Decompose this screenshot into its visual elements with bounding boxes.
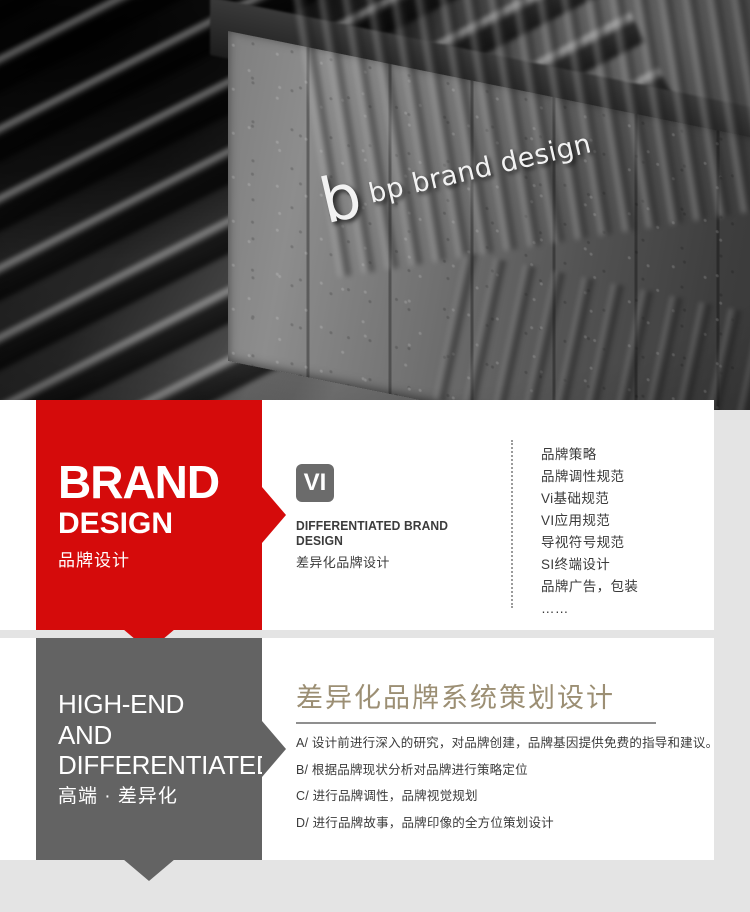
- list-item: 品牌策略: [541, 444, 638, 466]
- body-item: B/ 根据品牌现状分析对品牌进行策略定位: [296, 763, 706, 779]
- list-item: Vi基础规范: [541, 488, 638, 510]
- vi-badge-icon: VI: [296, 464, 334, 502]
- panel-notch-icon: [123, 859, 175, 881]
- service-bullet-list: 品牌策略 品牌调性规范 Vi基础规范 VI应用规范 导视符号规范 SI终端设计 …: [541, 444, 638, 620]
- body-item: A/ 设计前进行深入的研究，对品牌创建，品牌基因提供免费的指导和建议。: [296, 736, 706, 752]
- body-item: D/ 进行品牌故事，品牌印像的全方位策划设计: [296, 816, 706, 832]
- brand-title-chinese: 品牌设计: [58, 551, 262, 571]
- section-body: A/ 设计前进行深入的研究，对品牌创建，品牌基因提供免费的指导和建议。 B/ 根…: [296, 736, 706, 843]
- list-item: 品牌调性规范: [541, 466, 638, 488]
- panel-arrow-icon: [262, 721, 286, 777]
- section-heading-rule: [296, 722, 656, 724]
- vi-caption-chinese: 差异化品牌设计: [296, 552, 496, 571]
- body-item: C/ 进行品牌调性，品牌视觉规划: [296, 789, 706, 805]
- list-item: ……: [541, 598, 638, 620]
- list-item: 品牌广告，包装: [541, 576, 638, 598]
- brand-design-panel: BRAND DESIGN 品牌设计: [36, 400, 262, 630]
- list-item: 导视符号规范: [541, 532, 638, 554]
- hero-photo-banner: b bp brand design: [0, 0, 750, 410]
- high-end-line-3: DIFFERENTIATED: [58, 750, 262, 781]
- brand-subtitle: DESIGN: [58, 507, 262, 541]
- vi-caption-block: VI DIFFERENTIATED BRAND DESIGN 差异化品牌设计: [296, 464, 496, 571]
- high-end-line-2: AND: [58, 720, 262, 751]
- list-item: SI终端设计: [541, 554, 638, 576]
- hero-vignette: [0, 0, 750, 410]
- high-end-chinese: 高端 · 差异化: [58, 785, 262, 809]
- high-end-line-1: HIGH-END: [58, 689, 262, 720]
- brand-title: BRAND: [58, 459, 262, 505]
- high-end-panel: HIGH-END AND DIFFERENTIATED 高端 · 差异化: [36, 638, 262, 860]
- vi-caption-english: DIFFERENTIATED BRAND DESIGN: [296, 518, 482, 548]
- dotted-divider: [511, 440, 513, 608]
- panel-arrow-icon: [262, 487, 286, 543]
- promo-page: b bp brand design BRAND DESIGN 品牌设计 VI D…: [0, 0, 750, 912]
- list-item: VI应用规范: [541, 510, 638, 532]
- section-heading: 差异化品牌系统策划设计: [296, 676, 615, 715]
